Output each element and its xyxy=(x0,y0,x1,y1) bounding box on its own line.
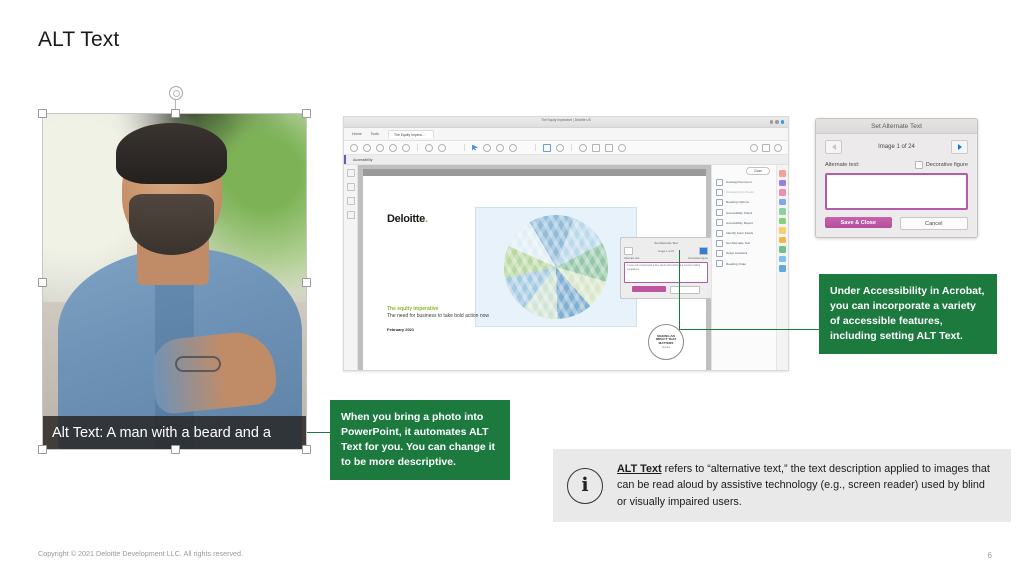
reading-order-icon xyxy=(716,260,723,267)
accessibility-check-icon xyxy=(716,209,723,216)
panel-item-label: Reading Options xyxy=(726,200,749,204)
accessibility-panel: Close Autotag Document Autotag Form Fiel… xyxy=(711,165,776,371)
acrobat-body: Deloitte. The equity imperative The need… xyxy=(344,165,788,371)
panel-item[interactable]: Identify Form Fields xyxy=(712,228,776,238)
resize-handle-top-right[interactable] xyxy=(302,109,311,118)
stamp-icon[interactable] xyxy=(605,144,613,152)
document-tab[interactable]: The Equity Impera... xyxy=(388,130,434,138)
callout-acrobat-accessibility: Under Accessibility in Acrobat, you can … xyxy=(819,274,997,354)
email-icon[interactable] xyxy=(376,144,384,152)
accessibility-panel-list: Autotag Document Autotag Form Fields Rea… xyxy=(712,177,776,269)
photo-eyeglasses xyxy=(175,356,221,372)
request-signatures-icon[interactable] xyxy=(779,237,786,244)
next-image-button[interactable] xyxy=(951,140,968,154)
cloud-icon[interactable] xyxy=(389,144,397,152)
checkbox-box[interactable] xyxy=(915,161,923,169)
mini-save-close-button[interactable] xyxy=(632,286,666,292)
alt-text-definition-box: ℹ ALT Text refers to “alternative text,”… xyxy=(553,449,1011,522)
dialog-footer: Save & Close Cancel xyxy=(825,217,968,230)
comment-icon[interactable] xyxy=(579,144,587,152)
toolbar-separator-4 xyxy=(571,144,572,151)
panel-item[interactable]: Accessibility Check xyxy=(712,208,776,218)
panel-item[interactable]: Autotag Form Fields xyxy=(712,187,776,197)
window-controls xyxy=(770,120,785,124)
fill-sign-icon[interactable] xyxy=(779,227,786,234)
edit-pdf-icon[interactable] xyxy=(779,189,786,196)
thumbnails-icon[interactable] xyxy=(347,169,355,177)
mini-field-label: Alternate text: xyxy=(624,257,640,260)
zoom-level-field[interactable] xyxy=(522,145,528,151)
sign-icon[interactable] xyxy=(774,144,782,152)
mini-prev-button[interactable] xyxy=(624,247,633,255)
toolbar-separator-3 xyxy=(535,144,536,151)
panel-item-label: Reading Order xyxy=(726,262,746,266)
toolbar-right-group xyxy=(750,144,782,152)
cancel-button[interactable]: Cancel xyxy=(900,217,969,230)
footer-page-number: 6 xyxy=(988,551,992,560)
attachments-icon[interactable] xyxy=(347,211,355,219)
hand-tool-icon[interactable] xyxy=(483,144,491,152)
photo-arm xyxy=(150,329,279,415)
undo-icon[interactable] xyxy=(618,144,626,152)
bookmarks-icon[interactable] xyxy=(347,183,355,191)
setup-assistant-icon xyxy=(716,250,723,257)
search-icon[interactable] xyxy=(402,144,410,152)
pdf-headline: The equity imperative xyxy=(387,306,489,312)
export-pdf-icon[interactable] xyxy=(779,170,786,177)
pdf-cover-graphic xyxy=(475,207,637,327)
save-and-close-label: Save & Close xyxy=(841,220,876,226)
definition-body: refers to “alternative text,” the text d… xyxy=(617,463,990,508)
mini-checkbox-label[interactable]: Decorative figure xyxy=(688,257,708,260)
read-aloud-icon[interactable] xyxy=(556,144,564,152)
comment-tool-icon[interactable] xyxy=(779,199,786,206)
panel-item-label: Setup Assistant xyxy=(726,251,747,255)
acrobat-window-screenshot: The Equity Imperative | Deloitte US Home… xyxy=(343,116,789,371)
page-fit-icon[interactable] xyxy=(543,144,551,152)
acrobat-tools-rail xyxy=(776,165,788,371)
menu-item-home[interactable]: Home xyxy=(352,132,362,136)
autotag-form-fields-icon xyxy=(716,189,723,196)
pdf-page-header-band xyxy=(363,169,706,176)
info-glyph: ℹ xyxy=(581,476,588,495)
share-icon[interactable] xyxy=(750,144,758,152)
resize-handle-middle-right[interactable] xyxy=(302,278,311,287)
resize-handle-top-center[interactable] xyxy=(171,109,180,118)
panel-item[interactable]: Reading Options xyxy=(712,197,776,207)
mini-alt-text-input[interactable]: A man with a beard and a blue denim shir… xyxy=(624,262,708,283)
mini-cancel-button[interactable] xyxy=(670,286,700,294)
selected-photo-object[interactable]: Alt Text: A man with a beard and a xyxy=(42,113,307,450)
dialog-label-row: Alternate text: Decorative figure xyxy=(825,161,968,169)
deloitte-dot: . xyxy=(425,213,428,225)
acrobat-window-title: The Equity Imperative | Deloitte US xyxy=(541,118,591,122)
page-down-icon[interactable] xyxy=(438,144,446,152)
mini-dialog-title: Set Alternate Text xyxy=(624,241,708,245)
protect-icon[interactable] xyxy=(779,246,786,253)
badge-line-3: MATTERS xyxy=(659,342,674,346)
pdf-cover-text: The equity imperative The need for busin… xyxy=(387,306,489,332)
set-alternate-text-icon xyxy=(716,240,723,247)
set-alternate-text-dialog[interactable]: Set Alternate Text Image 1 of 24 Alterna… xyxy=(815,118,978,238)
photo-hair xyxy=(116,123,227,184)
pdf-page: Deloitte. The equity imperative The need… xyxy=(363,169,706,371)
save-and-close-button[interactable]: Save & Close xyxy=(825,217,892,228)
badge-subtext: Deloitte xyxy=(662,346,670,349)
dialog-body: Image 1 of 24 Alternate text: Decorative… xyxy=(816,134,977,236)
photo-beard xyxy=(129,194,214,255)
alternate-text-label: Alternate text: xyxy=(825,162,860,168)
cancel-label: Cancel xyxy=(925,221,942,227)
highlight-icon[interactable] xyxy=(592,144,600,152)
panel-item-label: Autotag Document xyxy=(726,180,752,184)
acrobat-title-bar: The Equity Imperative | Deloitte US xyxy=(344,117,788,128)
panel-item[interactable]: Set Alternate Text xyxy=(712,238,776,248)
accessibility-report-icon xyxy=(716,219,723,226)
accessibility-tool-bar: Accessibility xyxy=(344,155,788,165)
organize-pages-icon[interactable] xyxy=(779,218,786,225)
info-circle-icon: ℹ xyxy=(567,468,603,504)
pdf-date: February 2021 xyxy=(387,327,489,332)
isometric-sphere-graphic xyxy=(504,215,608,319)
acrobat-toolbar xyxy=(344,141,788,155)
window-maximize-dot xyxy=(775,120,779,124)
identify-form-fields-icon xyxy=(716,230,723,237)
dialog-nav-row: Image 1 of 24 xyxy=(825,140,968,154)
alt-text-caption: Alt Text: A man with a beard and a xyxy=(42,425,271,441)
window-close-dot xyxy=(781,120,785,124)
mini-next-button[interactable] xyxy=(699,247,708,255)
panel-item-label: Autotag Form Fields xyxy=(726,190,754,194)
panel-item[interactable]: Accessibility Report xyxy=(712,218,776,228)
resize-handle-bottom-center[interactable] xyxy=(171,445,180,454)
connector-acrobat-to-right-callout xyxy=(679,329,819,330)
callout-powerpoint-alt-text: When you bring a photo into PowerPoint, … xyxy=(330,400,510,480)
connector-photo-to-left-callout xyxy=(307,432,331,433)
zoom-in-icon[interactable] xyxy=(509,144,517,152)
toolbar-separator-1 xyxy=(417,144,418,151)
create-pdf-icon[interactable] xyxy=(779,180,786,187)
tool-accent-stripe xyxy=(344,155,346,164)
decorative-figure-label: Decorative figure xyxy=(926,162,968,168)
connector-acrobat-vertical xyxy=(679,250,680,330)
export-icon[interactable] xyxy=(762,144,770,152)
previous-image-button[interactable] xyxy=(825,140,842,154)
deloitte-logo: Deloitte. xyxy=(387,213,428,225)
panel-item-label: Identify Form Fields xyxy=(726,231,753,235)
definition-term: ALT Text xyxy=(617,463,662,475)
redact-icon[interactable] xyxy=(779,256,786,263)
acrobat-menu-bar: Home Tools The Equity Impera... xyxy=(344,128,788,141)
rotate-handle[interactable] xyxy=(169,86,183,100)
select-cursor-icon[interactable] xyxy=(472,145,478,151)
alternate-text-input[interactable] xyxy=(825,173,968,210)
close-panel-button[interactable]: Close xyxy=(746,167,770,175)
pdf-subhead: The need for business to take bold actio… xyxy=(387,313,489,320)
resize-handle-top-left[interactable] xyxy=(38,109,47,118)
panel-item-label: Accessibility Report xyxy=(726,221,753,225)
alt-text-definition: ALT Text refers to “alternative text,” t… xyxy=(617,461,997,510)
decorative-figure-checkbox[interactable]: Decorative figure xyxy=(915,161,968,169)
mini-dialog-footer xyxy=(624,286,708,294)
photo-image[interactable]: Alt Text: A man with a beard and a xyxy=(42,113,307,450)
menu-item-tools[interactable]: Tools xyxy=(371,132,379,136)
panel-item[interactable]: Reading Order xyxy=(712,259,776,269)
combine-files-icon[interactable] xyxy=(779,208,786,215)
resize-handle-bottom-left[interactable] xyxy=(38,445,47,454)
chevron-right-icon xyxy=(958,144,962,150)
reading-options-icon xyxy=(716,199,723,206)
acrobat-left-rail xyxy=(344,165,358,371)
image-counter: Image 1 of 24 xyxy=(842,144,951,150)
tags-icon[interactable] xyxy=(347,197,355,205)
toolbar-separator-2 xyxy=(464,144,465,151)
print-icon[interactable] xyxy=(363,144,371,152)
panel-item[interactable]: Autotag Document xyxy=(712,177,776,187)
page-title: ALT Text xyxy=(38,28,119,52)
panel-item[interactable]: Setup Assistant xyxy=(712,248,776,258)
acrobat-document-view[interactable]: Deloitte. The equity imperative The need… xyxy=(358,165,711,371)
more-tools-icon[interactable] xyxy=(779,265,786,272)
chevron-left-icon xyxy=(832,144,836,150)
autotag-document-icon xyxy=(716,179,723,186)
mini-set-alternate-text-dialog[interactable]: Set Alternate Text Image 1 of 24 Alterna… xyxy=(620,237,712,299)
resize-handle-bottom-right[interactable] xyxy=(302,445,311,454)
footer-copyright: Copyright © 2021 Deloitte Development LL… xyxy=(38,549,243,558)
resize-handle-middle-left[interactable] xyxy=(38,278,47,287)
dialog-title-bar: Set Alternate Text xyxy=(816,119,977,134)
panel-item-label: Accessibility Check xyxy=(726,211,752,215)
dialog-title: Set Alternate Text xyxy=(871,123,922,130)
panel-item-label: Set Alternate Text xyxy=(726,241,750,245)
mini-dialog-nav: Image 1 of 24 xyxy=(624,247,708,255)
page-up-icon[interactable] xyxy=(425,144,433,152)
deloitte-wordmark: Deloitte xyxy=(387,213,425,225)
mini-dialog-labels: Alternate text: Decorative figure xyxy=(624,257,708,260)
mini-counter: Image 1 of 24 xyxy=(658,250,674,253)
page-field[interactable] xyxy=(451,145,457,151)
slide-canvas: ALT Text Alt Text: A man with a beard an… xyxy=(0,0,1024,576)
accessibility-label: Accessibility xyxy=(349,158,373,162)
save-icon[interactable] xyxy=(350,144,358,152)
window-minimize-dot xyxy=(770,120,774,124)
zoom-out-icon[interactable] xyxy=(496,144,504,152)
